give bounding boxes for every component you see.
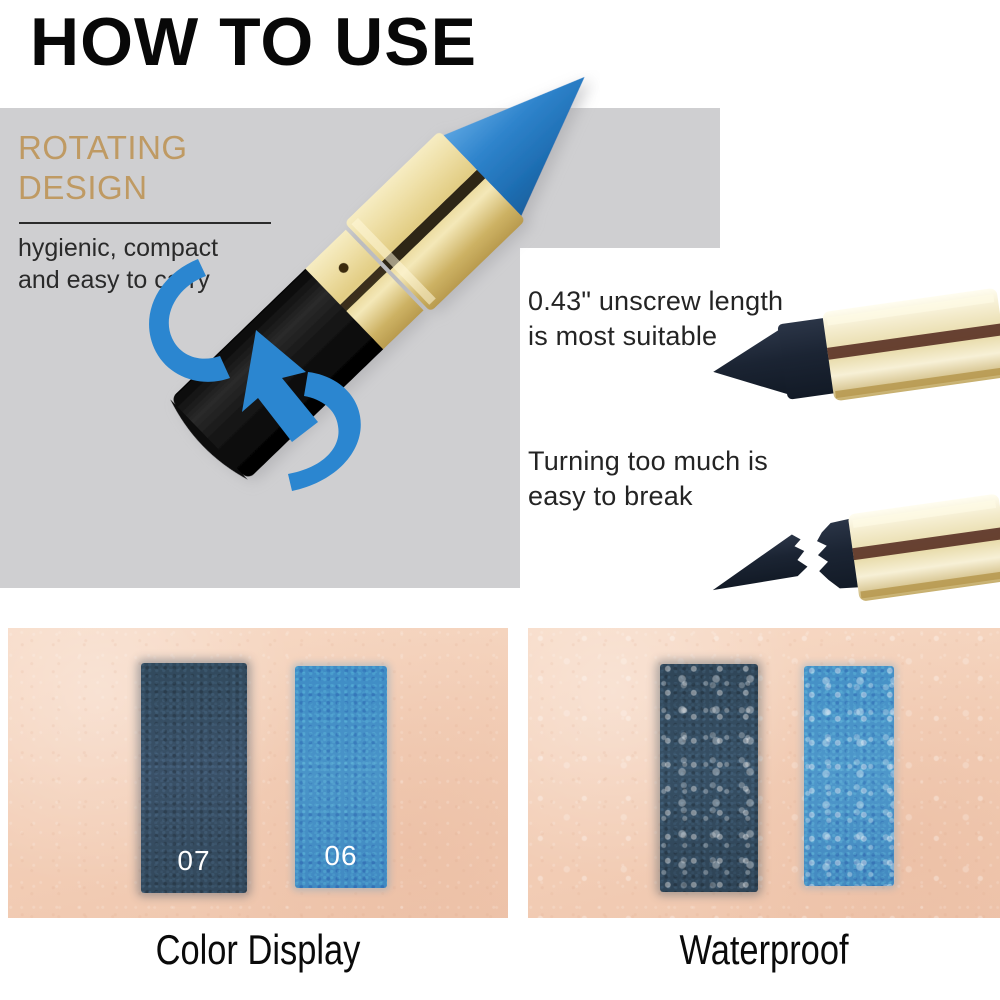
caption-color-display: Color Display bbox=[53, 926, 463, 974]
pencil-intact-illustration bbox=[700, 288, 1000, 418]
pencil-navy-tip bbox=[709, 328, 792, 406]
water-droplets-icon bbox=[804, 666, 894, 886]
caption-waterproof: Waterproof bbox=[570, 926, 957, 974]
swatch-label-06: 06 bbox=[295, 840, 387, 872]
color-display-panel: 07 06 bbox=[8, 628, 508, 918]
skin-background-wet bbox=[528, 628, 1000, 918]
swatch-waterproof-dark bbox=[660, 664, 758, 892]
water-droplets-skin bbox=[528, 628, 1000, 918]
swatch-06: 06 bbox=[295, 666, 387, 888]
swatch-07: 07 bbox=[141, 663, 247, 893]
swatch-waterproof-light bbox=[804, 666, 894, 886]
waterproof-panel bbox=[528, 628, 1000, 918]
rotating-pencil-illustration bbox=[60, 70, 600, 570]
broken-tip-fragment bbox=[707, 533, 809, 590]
easy-to-break-note-line1: Turning too much is bbox=[528, 444, 858, 479]
page-title: HOW TO USE bbox=[30, 8, 477, 76]
pencil-broken-illustration bbox=[700, 492, 1000, 627]
swatch-label-07: 07 bbox=[141, 845, 247, 877]
water-droplets-icon bbox=[660, 664, 758, 892]
skin-background bbox=[8, 628, 508, 918]
